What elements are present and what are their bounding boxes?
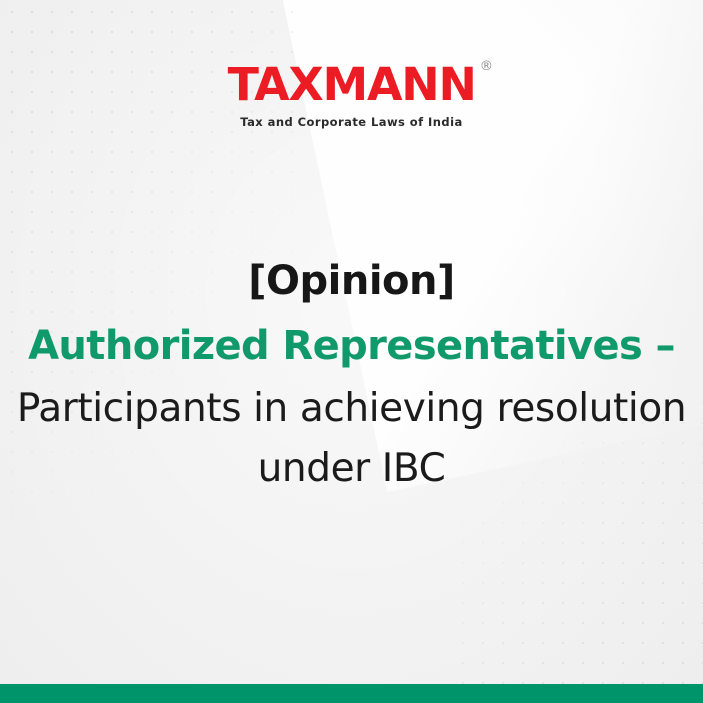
logo-wordmark-text: TAXMANN	[227, 58, 475, 111]
headline-line-green: Authorized Representatives –	[0, 323, 703, 370]
headline-line-last: under IBC	[0, 446, 703, 492]
logo-wordmark: TAXMANN ®	[227, 62, 475, 107]
opinion-label: [Opinion]	[0, 258, 703, 305]
headline-line-sub: Participants in achieving resolution	[0, 386, 703, 432]
headline-block: [Opinion] Authorized Representatives – P…	[0, 258, 703, 492]
social-media-card: TAXMANN ® Tax and Corporate Laws of Indi…	[0, 0, 703, 703]
logo-tagline: Tax and Corporate Laws of India	[0, 117, 703, 129]
taxmann-logo: TAXMANN ® Tax and Corporate Laws of Indi…	[0, 62, 703, 129]
registered-trademark-icon: ®	[480, 60, 493, 73]
bottom-accent-bar	[0, 684, 703, 703]
